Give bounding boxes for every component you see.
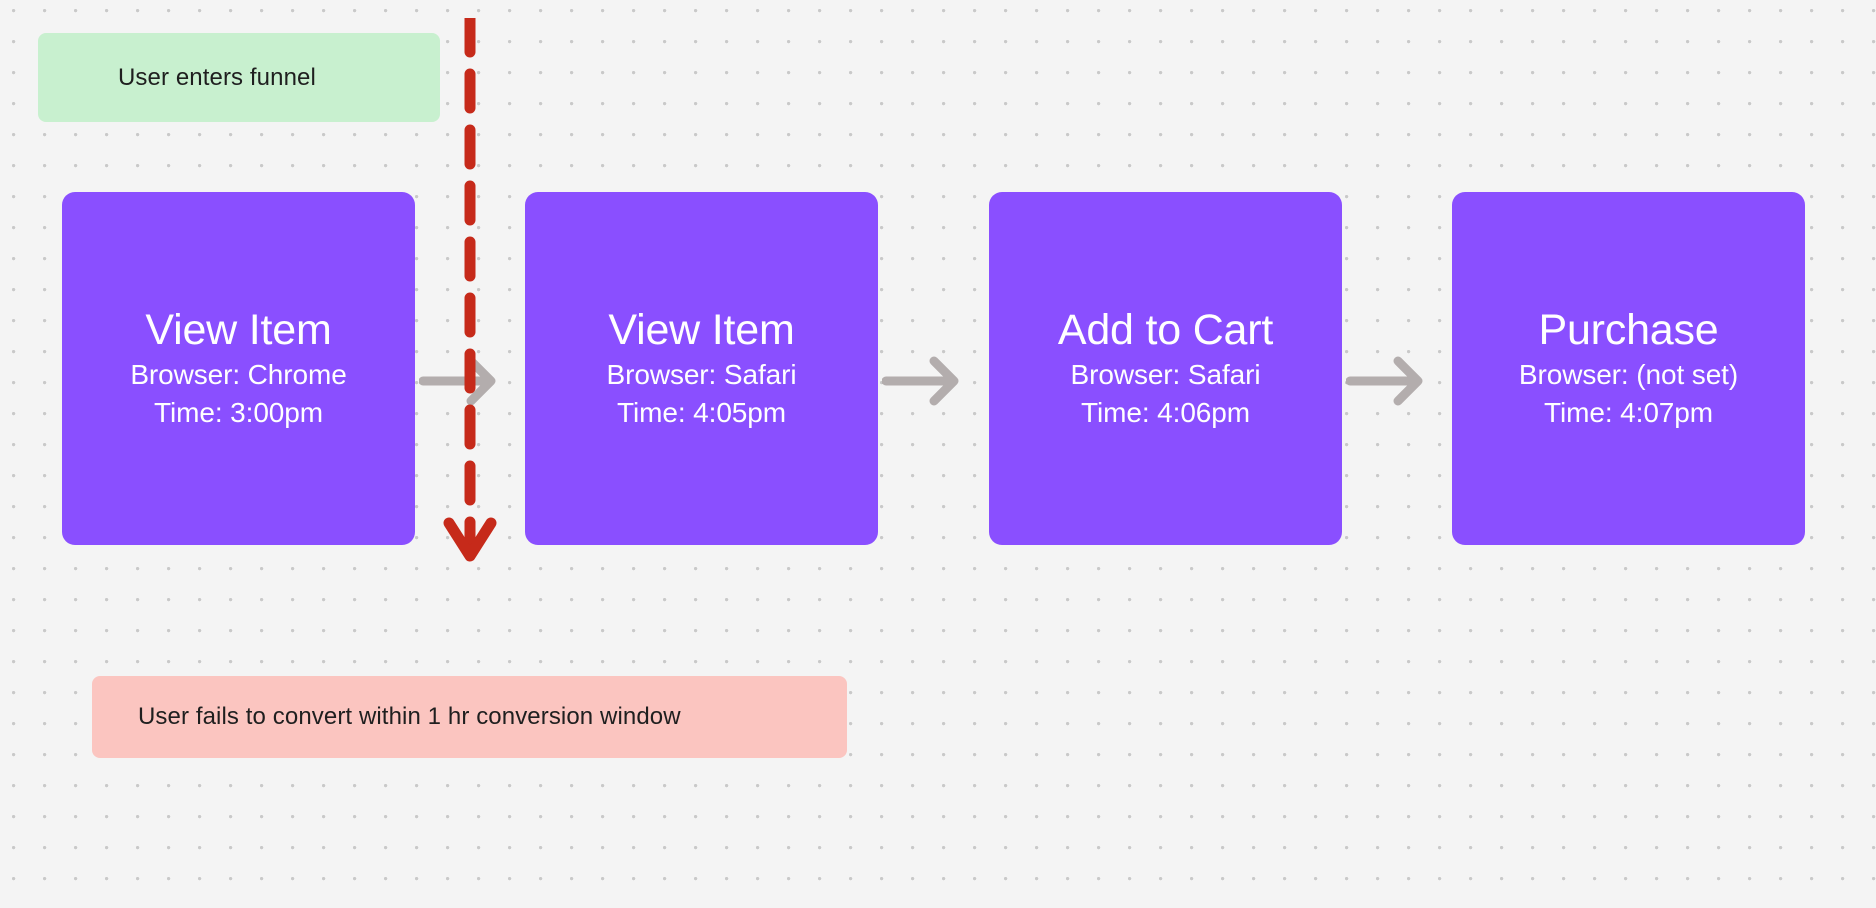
dropoff-note: User fails to convert within 1 hr conver… bbox=[92, 676, 847, 758]
arrow-right-icon bbox=[882, 355, 968, 407]
step-title: Purchase bbox=[1538, 306, 1718, 354]
step-time: Time: 4:05pm bbox=[617, 394, 786, 431]
arrow-right-icon bbox=[1346, 355, 1432, 407]
step-time: Time: 4:07pm bbox=[1544, 394, 1713, 431]
step-title: Add to Cart bbox=[1058, 306, 1273, 354]
step-browser: Browser: Safari bbox=[1071, 356, 1261, 393]
diagram-canvas: User enters funnel View Item Browser: Ch… bbox=[0, 0, 1876, 908]
step-browser: Browser: Chrome bbox=[130, 356, 346, 393]
arrow-right-icon bbox=[419, 355, 505, 407]
funnel-step-card[interactable]: View Item Browser: Chrome Time: 3:00pm bbox=[62, 192, 415, 545]
funnel-step-card[interactable]: View Item Browser: Safari Time: 4:05pm bbox=[525, 192, 878, 545]
funnel-step-card[interactable]: Add to Cart Browser: Safari Time: 4:06pm bbox=[989, 192, 1342, 545]
entry-note-label: User enters funnel bbox=[118, 64, 316, 92]
entry-note: User enters funnel bbox=[38, 33, 440, 122]
step-time: Time: 3:00pm bbox=[154, 394, 323, 431]
step-title: View Item bbox=[145, 306, 331, 354]
step-time: Time: 4:06pm bbox=[1081, 394, 1250, 431]
step-browser: Browser: (not set) bbox=[1519, 356, 1738, 393]
step-browser: Browser: Safari bbox=[607, 356, 797, 393]
step-title: View Item bbox=[608, 306, 794, 354]
dropoff-note-label: User fails to convert within 1 hr conver… bbox=[138, 703, 681, 731]
funnel-step-card[interactable]: Purchase Browser: (not set) Time: 4:07pm bbox=[1452, 192, 1805, 545]
